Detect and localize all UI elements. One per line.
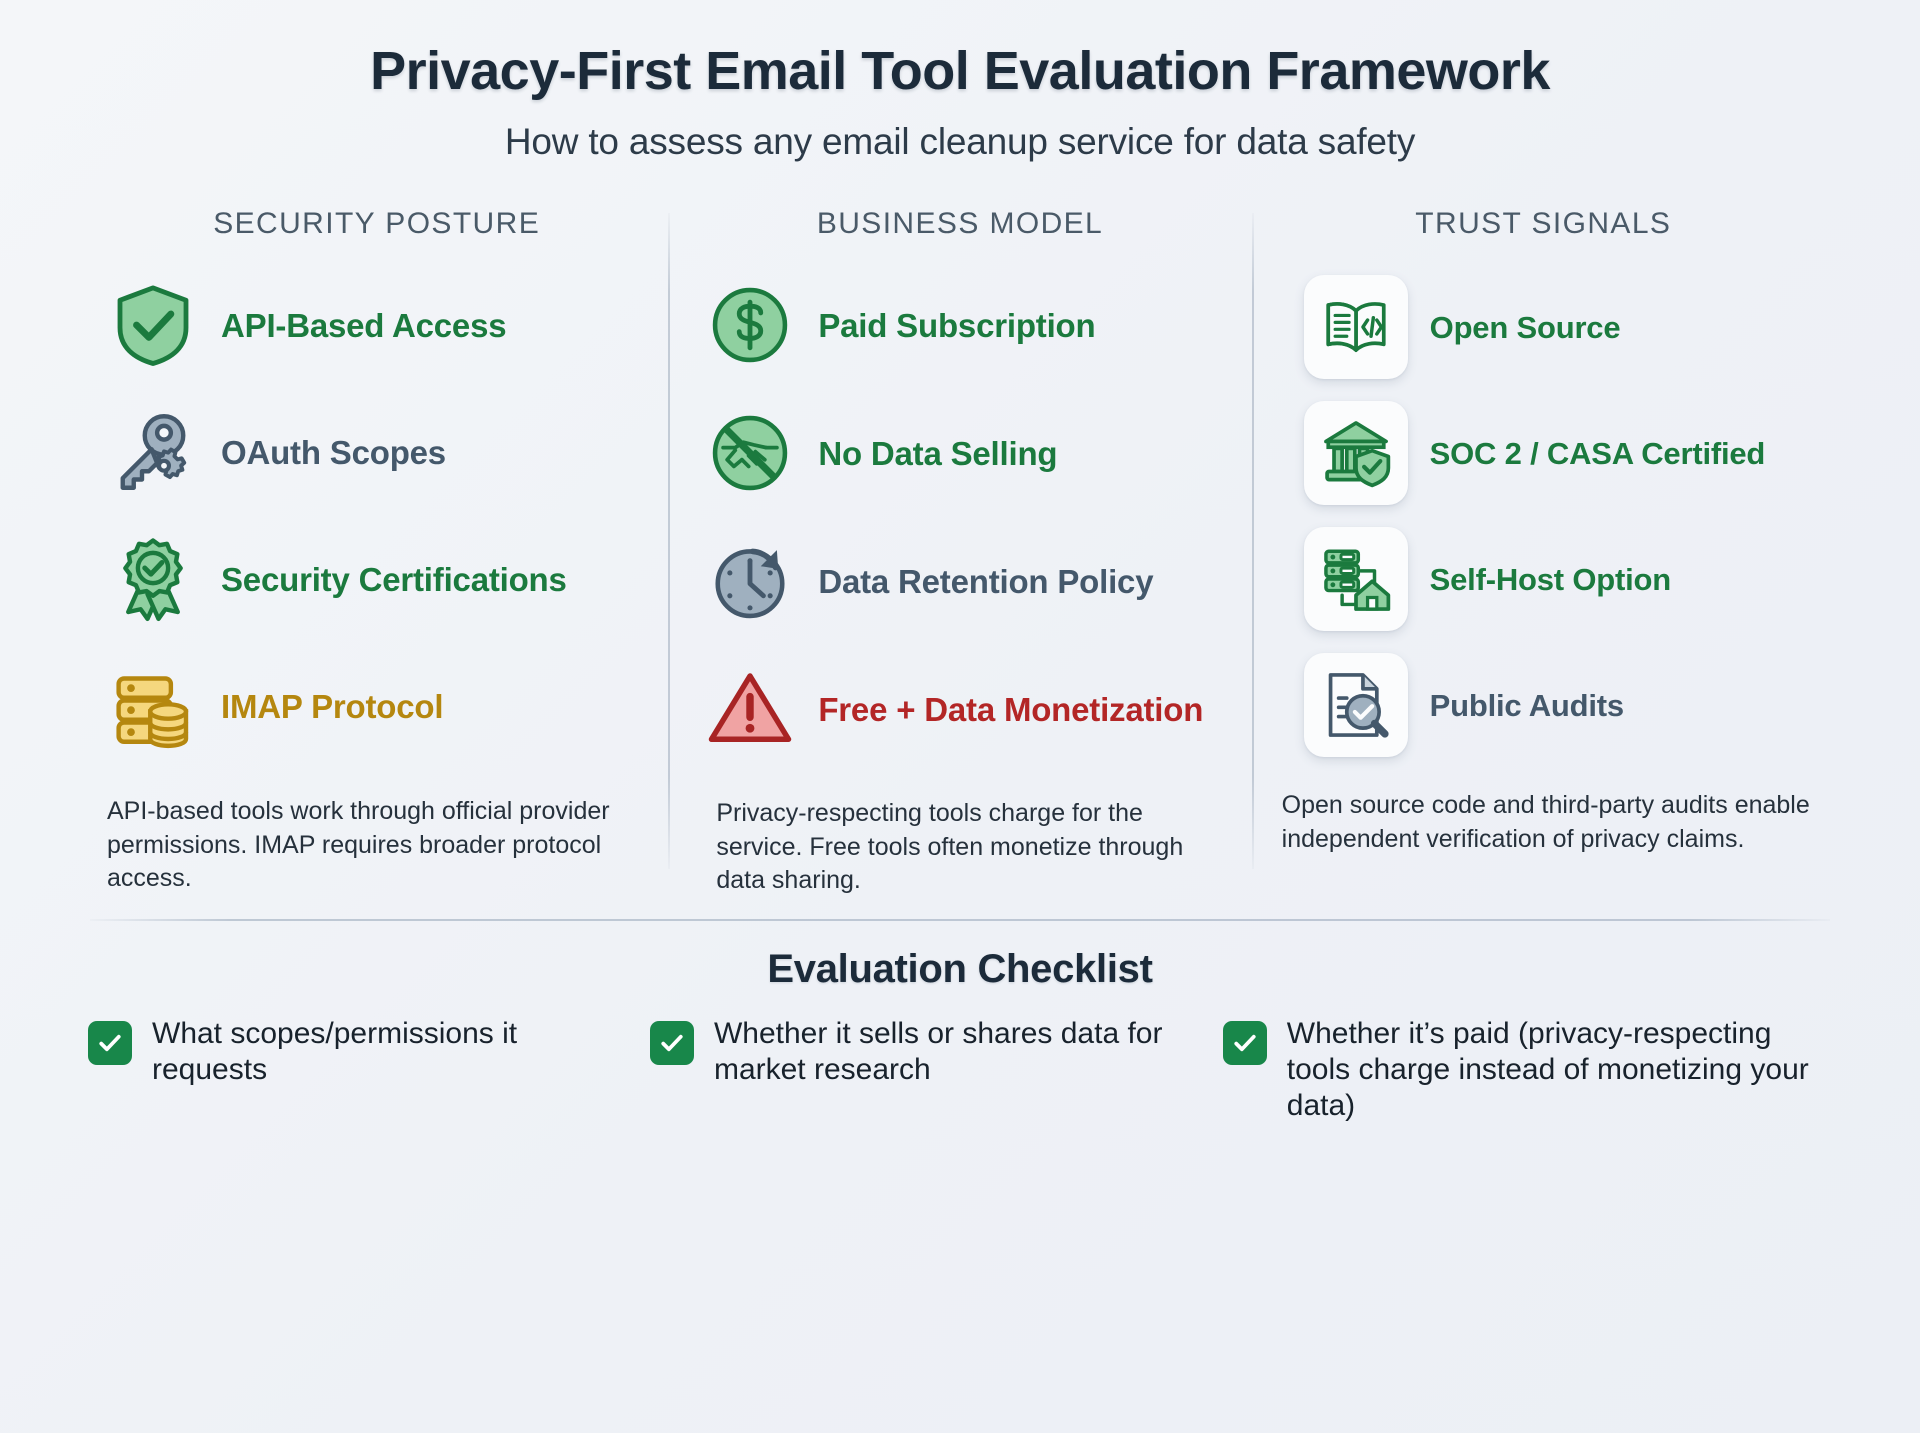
items-trust-signals: Open Source [1274, 275, 1813, 779]
checklist-items: What scopes/permissions it requests Whet… [60, 1016, 1860, 1124]
item-label: Self-Host Option [1430, 561, 1671, 598]
column-note-security-posture: API-based tools work through official pr… [107, 795, 646, 895]
server-database-icon [107, 660, 199, 752]
column-heading-trust-signals: TRUST SIGNALS [1274, 207, 1813, 241]
key-gear-icon [107, 406, 199, 498]
item-label: Security Certifications [221, 560, 567, 600]
item-label: SOC 2 / CASA Certified [1430, 435, 1766, 472]
header: Privacy-First Email Tool Evaluation Fram… [60, 0, 1860, 163]
items-business-model: Paid Subscription [690, 275, 1229, 787]
item-label: API-Based Access [221, 306, 506, 346]
infographic-root: Privacy-First Email Tool Evaluation Fram… [0, 0, 1920, 1433]
checklist-item-text: What scopes/permissions it requests [152, 1016, 632, 1088]
item-oauth-scopes: OAuth Scopes [107, 402, 646, 502]
column-heading-business-model: BUSINESS MODEL [690, 207, 1229, 241]
no-handshake-icon [704, 407, 796, 499]
items-security-posture: API-Based Access [107, 275, 646, 783]
item-data-retention-policy: Data Retention Policy [704, 531, 1229, 631]
item-label: Data Retention Policy [818, 562, 1153, 602]
item-imap-protocol: IMAP Protocol [107, 656, 646, 756]
checklist-item[interactable]: Whether it sells or shares data for mark… [650, 1016, 1205, 1124]
clock-retention-icon [704, 535, 796, 627]
bank-shield-check-icon [1304, 401, 1408, 505]
item-label: Open Source [1430, 309, 1621, 346]
check-icon [1223, 1021, 1267, 1065]
item-paid-subscription: Paid Subscription [704, 275, 1229, 375]
dollar-coin-icon [704, 279, 796, 371]
column-note-business-model: Privacy-respecting tools charge for the … [690, 797, 1229, 897]
item-no-data-selling: No Data Selling [704, 403, 1229, 503]
column-security-posture: SECURITY POSTURE API-Based Access [85, 207, 668, 897]
item-api-based-access: API-Based Access [107, 275, 646, 375]
section-divider [90, 919, 1830, 921]
column-trust-signals: TRUST SIGNALS [1252, 207, 1835, 897]
item-public-audits: Public Audits [1304, 653, 1813, 757]
page-subtitle: How to assess any email cleanup service … [60, 121, 1860, 163]
checklist-title: Evaluation Checklist [60, 947, 1860, 992]
column-business-model: BUSINESS MODEL Paid Subscription [668, 207, 1251, 897]
item-security-certifications: Security Certifications [107, 529, 646, 629]
columns-container: SECURITY POSTURE API-Based Access [60, 207, 1860, 897]
item-label: Public Audits [1430, 687, 1624, 724]
award-ribbon-check-icon [107, 533, 199, 625]
column-heading-security-posture: SECURITY POSTURE [107, 207, 646, 241]
shield-check-icon [107, 279, 199, 371]
item-label: IMAP Protocol [221, 687, 443, 727]
check-icon [650, 1021, 694, 1065]
item-label: No Data Selling [818, 434, 1057, 474]
checklist-item[interactable]: What scopes/permissions it requests [88, 1016, 632, 1124]
item-free-data-monetization: Free + Data Monetization [704, 659, 1229, 759]
item-self-host-option: Self-Host Option [1304, 527, 1813, 631]
item-label: Paid Subscription [818, 306, 1095, 346]
item-soc2-casa-certified: SOC 2 / CASA Certified [1304, 401, 1813, 505]
open-book-code-icon [1304, 275, 1408, 379]
item-label: OAuth Scopes [221, 433, 446, 473]
server-home-icon [1304, 527, 1408, 631]
checklist-item-text: Whether it’s paid (privacy-respecting to… [1287, 1016, 1832, 1124]
check-icon [88, 1021, 132, 1065]
item-label: Free + Data Monetization [818, 690, 1203, 730]
document-magnifier-check-icon [1304, 653, 1408, 757]
column-note-trust-signals: Open source code and third-party audits … [1274, 789, 1813, 856]
item-open-source: Open Source [1304, 275, 1813, 379]
warning-triangle-icon [704, 663, 796, 755]
checklist-item[interactable]: Whether it’s paid (privacy-respecting to… [1223, 1016, 1832, 1124]
checklist-item-text: Whether it sells or shares data for mark… [714, 1016, 1205, 1088]
page-title: Privacy-First Email Tool Evaluation Fram… [60, 42, 1860, 101]
